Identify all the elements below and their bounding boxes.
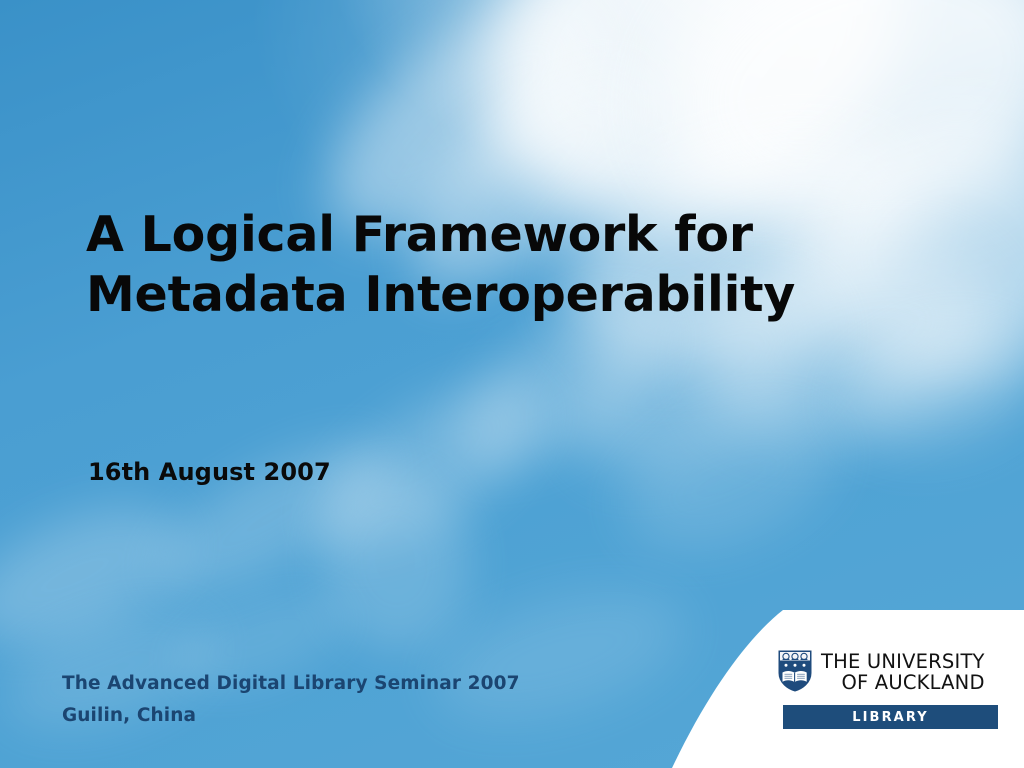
event-name: The Advanced Digital Library Seminar 200… — [62, 668, 520, 700]
slide-title-line-1: A Logical Framework for — [86, 205, 926, 265]
slide-title: A Logical Framework for Metadata Interop… — [86, 205, 926, 325]
presentation-date: 16th August 2007 — [88, 458, 331, 486]
university-logo: THE UNIVERSITY OF AUCKLAND — [778, 650, 985, 693]
slide-title-line-2: Metadata Interoperability — [86, 265, 926, 325]
logo-panel: THE UNIVERSITY OF AUCKLAND LIBRARY — [600, 596, 1024, 768]
university-wordmark-line-2: OF AUCKLAND — [821, 672, 985, 693]
event-footer: The Advanced Digital Library Seminar 200… — [62, 668, 520, 733]
event-location: Guilin, China — [62, 700, 520, 732]
university-shield-crest-icon — [778, 650, 812, 692]
presentation-title-slide: A Logical Framework for Metadata Interop… — [0, 0, 1024, 768]
library-division-bar: LIBRARY — [783, 705, 998, 729]
university-wordmark-line-1: THE UNIVERSITY — [821, 651, 985, 672]
university-wordmark: THE UNIVERSITY OF AUCKLAND — [821, 650, 985, 693]
